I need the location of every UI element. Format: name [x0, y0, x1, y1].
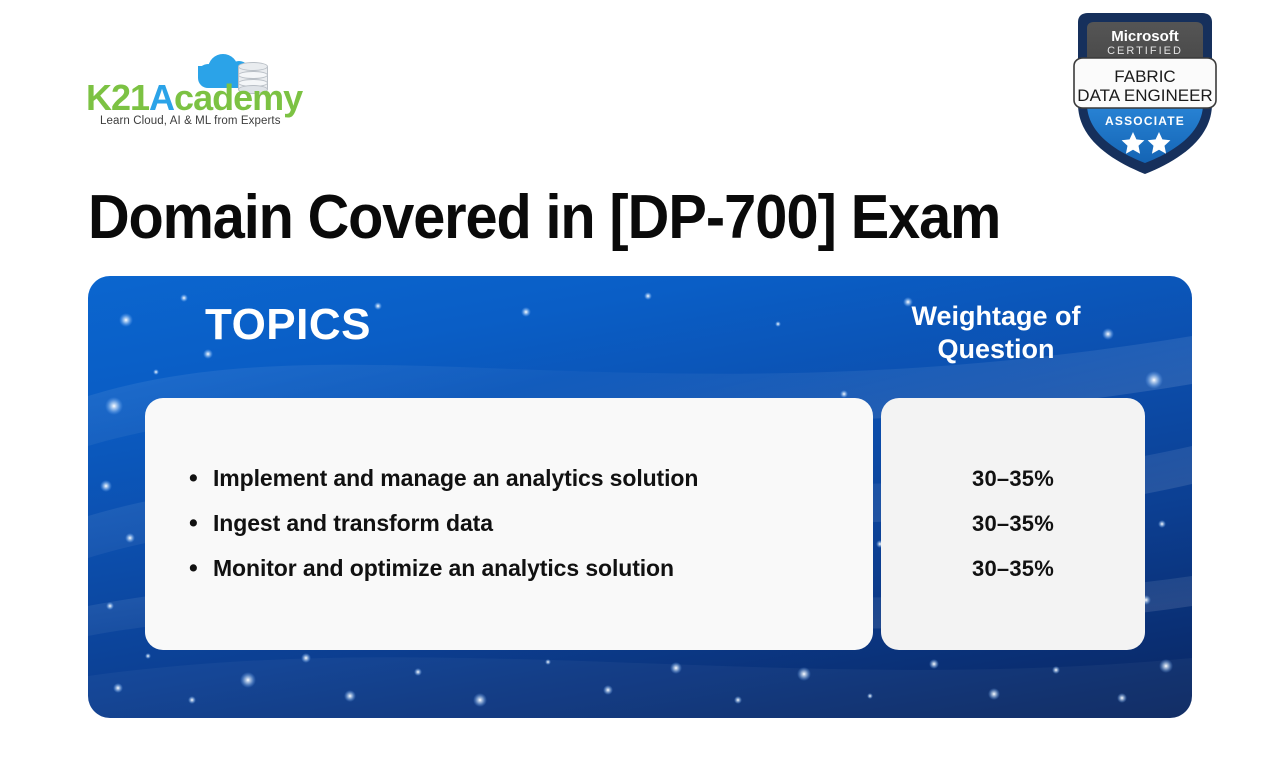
logo-wordmark-a: A: [149, 77, 174, 118]
badge-svg: Microsoft CERTIFIED FABRIC DATA ENGINEER…: [1070, 8, 1220, 178]
list-item: Monitor and optimize an analytics soluti…: [213, 546, 698, 591]
weightage-header-line2: Question: [880, 333, 1112, 366]
topic-label: Monitor and optimize an analytics soluti…: [213, 555, 674, 581]
logo-wordmark-k21: K21: [86, 77, 149, 118]
topic-label: Ingest and transform data: [213, 510, 493, 536]
list-item: 30–35%: [881, 546, 1145, 591]
badge-bottom-panel: [1087, 100, 1203, 163]
topics-panel: Implement and manage an analytics soluti…: [145, 398, 873, 650]
logo-tagline: Learn Cloud, AI & ML from Experts: [100, 115, 281, 127]
list-item: 30–35%: [881, 501, 1145, 546]
badge-track-line1: FABRIC: [1114, 67, 1175, 86]
microsoft-certified-badge: Microsoft CERTIFIED FABRIC DATA ENGINEER…: [1070, 8, 1220, 178]
logo-wordmark-cademy: cademy: [174, 77, 302, 118]
badge-level-text: ASSOCIATE: [1105, 114, 1185, 128]
weight-value: 30–35%: [972, 466, 1054, 491]
page-title: Domain Covered in [DP-700] Exam: [88, 182, 1000, 253]
topics-list: Implement and manage an analytics soluti…: [185, 456, 698, 591]
page-title-bracket-open: [: [609, 183, 627, 252]
k21academy-logo: K21Academy Learn Cloud, AI & ML from Exp…: [86, 52, 286, 132]
weightage-header-line1: Weightage of: [880, 300, 1112, 333]
page-title-exam-code: DP-700: [628, 183, 818, 252]
list-item: Ingest and transform data: [213, 501, 698, 546]
weightage-column-header: Weightage of Question: [880, 300, 1112, 366]
weight-value: 30–35%: [972, 556, 1054, 581]
badge-track-line2: DATA ENGINEER: [1077, 86, 1212, 105]
weightage-panel: 30–35% 30–35% 30–35%: [881, 398, 1145, 650]
weightage-list: 30–35% 30–35% 30–35%: [881, 456, 1145, 591]
logo-wordmark: K21Academy: [86, 77, 302, 119]
page-title-bracket-close: ]: [818, 183, 836, 252]
page-title-prefix: Domain Covered in: [88, 183, 609, 252]
badge-certified-text: CERTIFIED: [1107, 45, 1183, 57]
topic-label: Implement and manage an analytics soluti…: [213, 465, 698, 491]
badge-vendor-text: Microsoft: [1111, 28, 1179, 45]
list-item: Implement and manage an analytics soluti…: [213, 456, 698, 501]
list-item: 30–35%: [881, 456, 1145, 501]
page-title-suffix: Exam: [836, 183, 1000, 252]
weight-value: 30–35%: [972, 511, 1054, 536]
topics-column-header: TOPICS: [205, 300, 371, 350]
